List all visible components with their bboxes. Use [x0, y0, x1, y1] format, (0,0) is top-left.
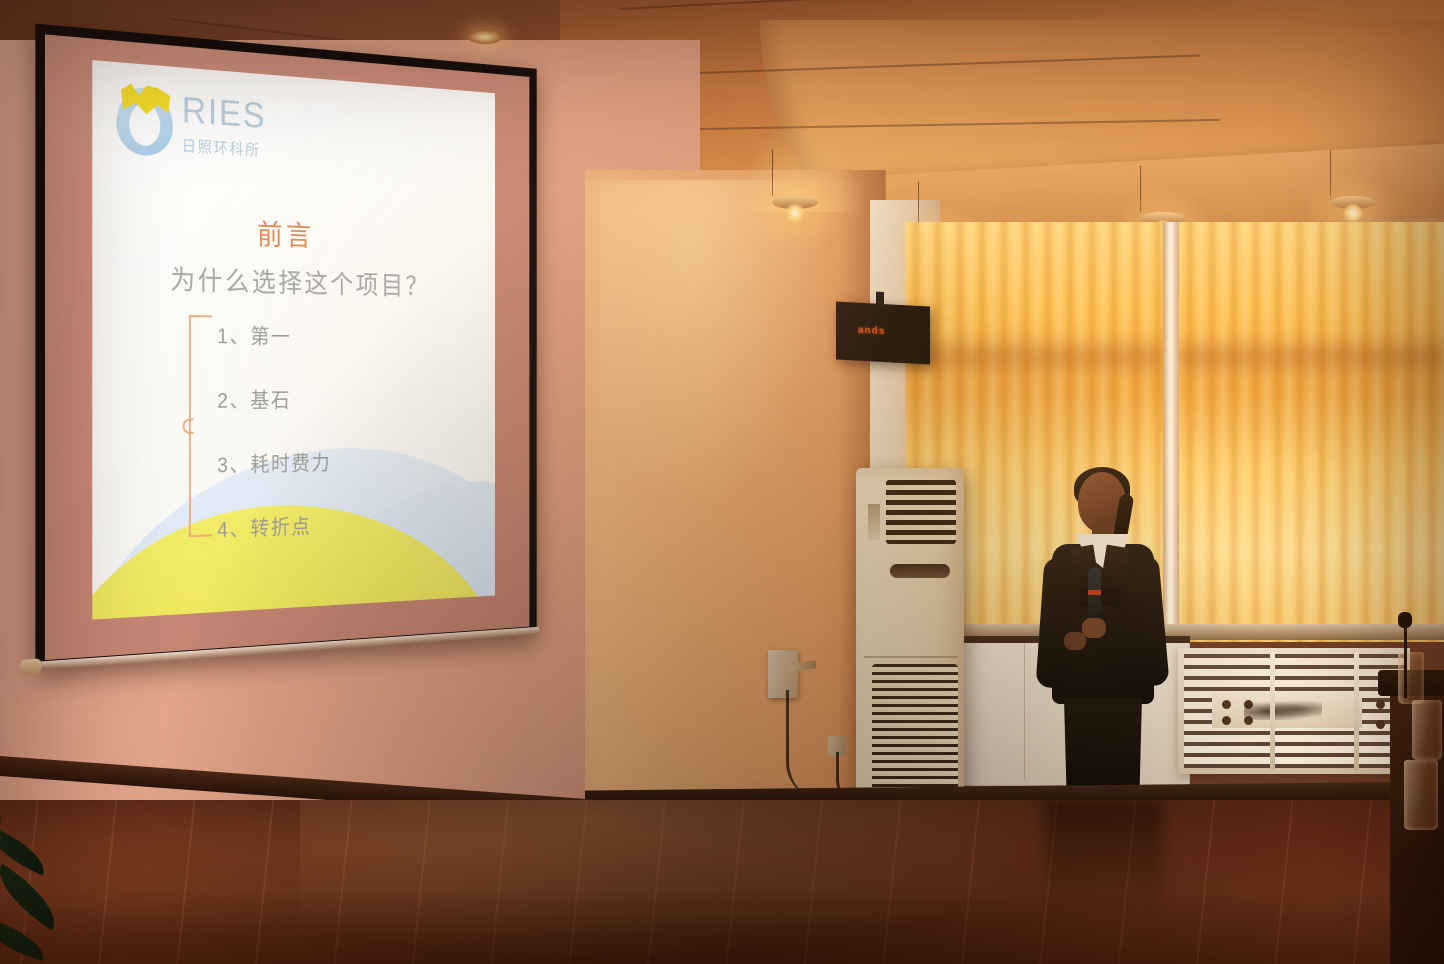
ac-top-vent: [886, 480, 956, 544]
radiator-post: [1354, 652, 1359, 770]
logo-text-block: RIES 日照环科所: [182, 92, 266, 160]
slide-subtitle: 为什么选择这个项目？: [92, 256, 495, 304]
pendant-bulb-icon: [785, 204, 805, 222]
radiator-knob: [1222, 700, 1231, 709]
power-cable: [786, 690, 824, 800]
speaker-brand-label: ands: [858, 325, 885, 337]
list-item: 3、耗时费力: [217, 444, 463, 479]
projected-slide: RIES 日照环科所 前言 为什么选择这个项目？ 1、第一 2、基石 3: [92, 60, 495, 619]
presenter-floor-reflection: [1044, 800, 1164, 920]
wood-floor: [0, 800, 1444, 964]
presenter-hand-left: [1082, 618, 1106, 638]
radiator-post: [1270, 652, 1275, 770]
radiator-knob: [1376, 720, 1385, 729]
microphone-indicator: [1088, 590, 1101, 595]
drinking-glass: [1398, 652, 1424, 704]
drinking-glass: [1404, 760, 1438, 830]
slide-bullet-list: 1、第一 2、基石 3、耗时费力 4、转折点: [217, 319, 463, 577]
radiator-knob: [1376, 700, 1385, 709]
floor-reflection-sheen: [300, 800, 1060, 964]
radiator-knob: [1222, 716, 1231, 725]
slide-title: 前言: [92, 203, 461, 259]
microphone-stand: [1404, 620, 1407, 698]
speaker-bracket: [876, 292, 884, 306]
logo-mark-icon: [116, 86, 174, 162]
curtain-right: [1179, 222, 1444, 642]
slide-brace-decoration: [189, 315, 212, 537]
conference-room-photo: ands: [0, 0, 1444, 964]
curtain-shadow-band: [905, 334, 1163, 380]
curtain-shadow-band: [1179, 334, 1444, 380]
radiator-grille: [1178, 648, 1410, 774]
recessed-downlight-icon: [468, 30, 502, 44]
plant-leaf: [0, 864, 68, 931]
air-conditioner[interactable]: [856, 468, 964, 816]
window-with-curtains: [905, 222, 1444, 642]
presenter-hand-right: [1064, 632, 1086, 650]
logo-wordmark: RIES: [182, 92, 266, 134]
screen-frame: RIES 日照环科所 前言 为什么选择这个项目？ 1、第一 2、基石 3: [35, 24, 536, 671]
pendant-bulb-icon: [1343, 204, 1363, 222]
screen-pull-knob[interactable]: [20, 658, 41, 674]
screen-surface: RIES 日照环科所 前言 为什么选择这个项目？ 1、第一 2、基石 3: [45, 34, 529, 660]
microphone-head-icon: [1398, 612, 1412, 628]
logo-chinese-name: 日照环科所: [182, 133, 266, 161]
company-logo: RIES 日照环科所: [116, 80, 284, 186]
list-item: 4、转折点: [217, 505, 463, 544]
list-item: 1、第一: [217, 319, 463, 352]
cabinet-divider: [1024, 642, 1025, 780]
potted-plant: [0, 830, 104, 964]
ac-brand-badge: [868, 504, 880, 540]
radiator-decal: [1244, 700, 1322, 720]
ac-body-seam: [864, 656, 958, 658]
wall-speaker: ands: [836, 302, 930, 365]
list-item: 2、基石: [217, 384, 463, 414]
handheld-microphone: [1088, 568, 1101, 624]
ac-lower-vent: [872, 664, 958, 804]
ac-display-panel[interactable]: [890, 564, 950, 578]
drinking-glass: [1412, 700, 1442, 760]
projection-screen: RIES 日照环科所 前言 为什么选择这个项目？ 1、第一 2、基石 3: [18, 8, 556, 708]
